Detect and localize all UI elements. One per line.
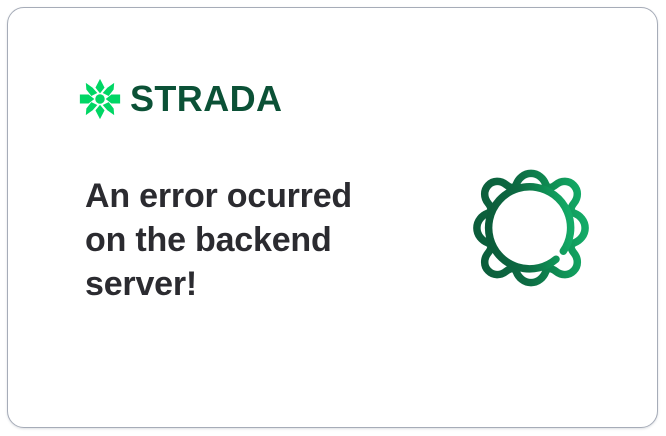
error-card: STRADA An error ocurred on the backend s…: [7, 7, 658, 428]
gear-cog-icon: [449, 146, 613, 310]
brand-lockup: STRADA: [79, 78, 282, 120]
error-message: An error ocurred on the backend server!: [85, 174, 385, 306]
brand-wordmark: STRADA: [130, 81, 282, 117]
error-screen: STRADA An error ocurred on the backend s…: [0, 0, 666, 436]
strada-asterisk-icon: [79, 78, 121, 120]
